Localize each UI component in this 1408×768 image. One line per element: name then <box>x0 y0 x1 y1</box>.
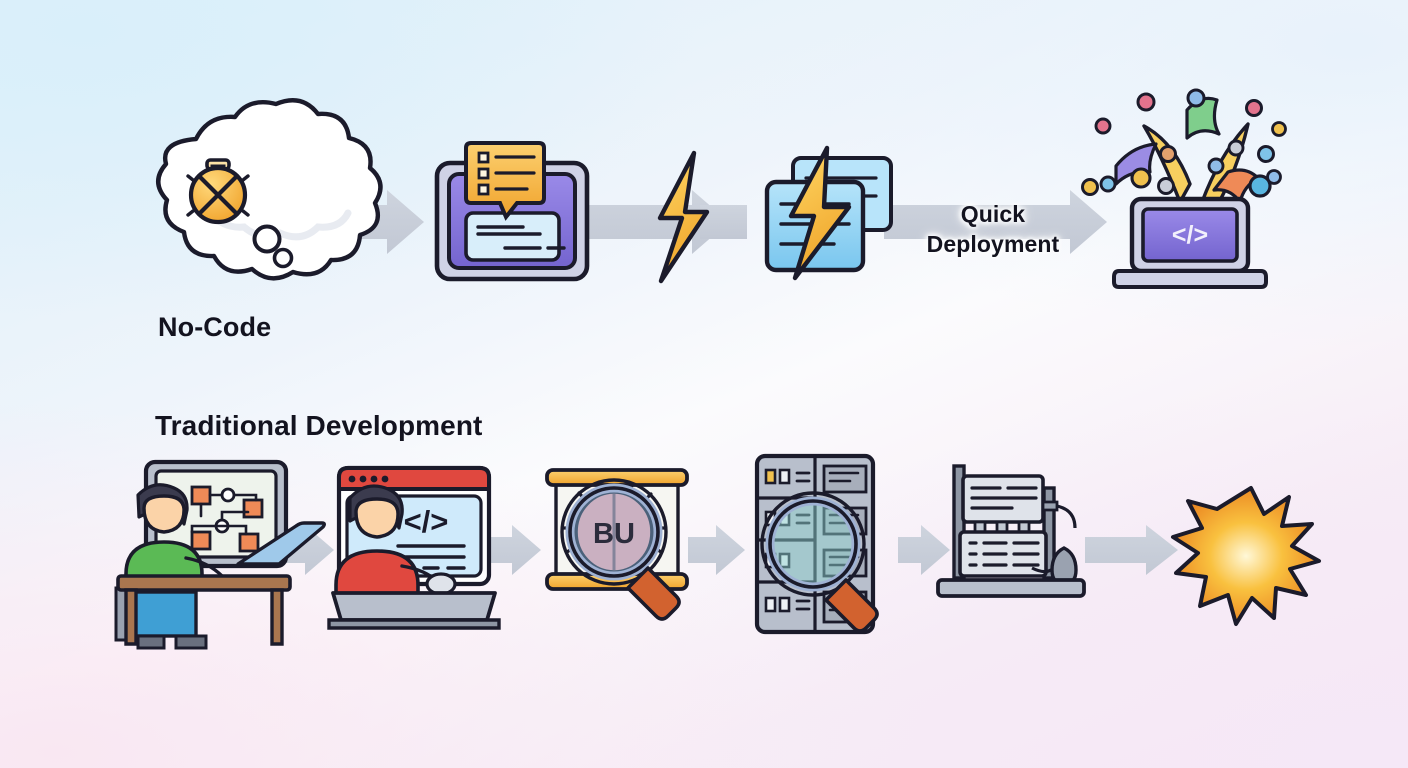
bug-label-text: BU <box>593 518 635 550</box>
laptop-code-symbol: </> <box>1172 221 1208 249</box>
traditional-flow-label: Traditional Development <box>155 410 482 442</box>
step-icon-thought-bubble-idea-icon <box>158 100 380 278</box>
step-icon-deployment-rig-icon <box>938 466 1084 596</box>
step-icon-explosion-burst-icon <box>1173 488 1319 624</box>
step-icon-visual-builder-icon <box>437 143 587 279</box>
step-icon-server-rack-magnifier-icon <box>757 456 877 632</box>
step-icon-bug-magnifier-icon: BU <box>547 470 687 619</box>
no-code-flow-label: No-Code <box>158 312 271 343</box>
quick-deployment-label: Quick Deployment <box>908 200 1078 260</box>
step-icon-lightning-bolt-icon <box>660 153 707 281</box>
infographic-canvas: </> <box>0 0 1408 768</box>
confetti-burst <box>1083 90 1286 204</box>
traditional-flow-row: </> <box>0 440 1408 690</box>
coding-screen-code-symbol: </> <box>404 504 449 539</box>
step-icon-lightning-documents-icon <box>767 148 891 278</box>
step-icon-laptop-confetti-launch-icon: </> <box>1083 90 1286 287</box>
step-icon-developer-coding-icon: </> <box>329 468 499 628</box>
